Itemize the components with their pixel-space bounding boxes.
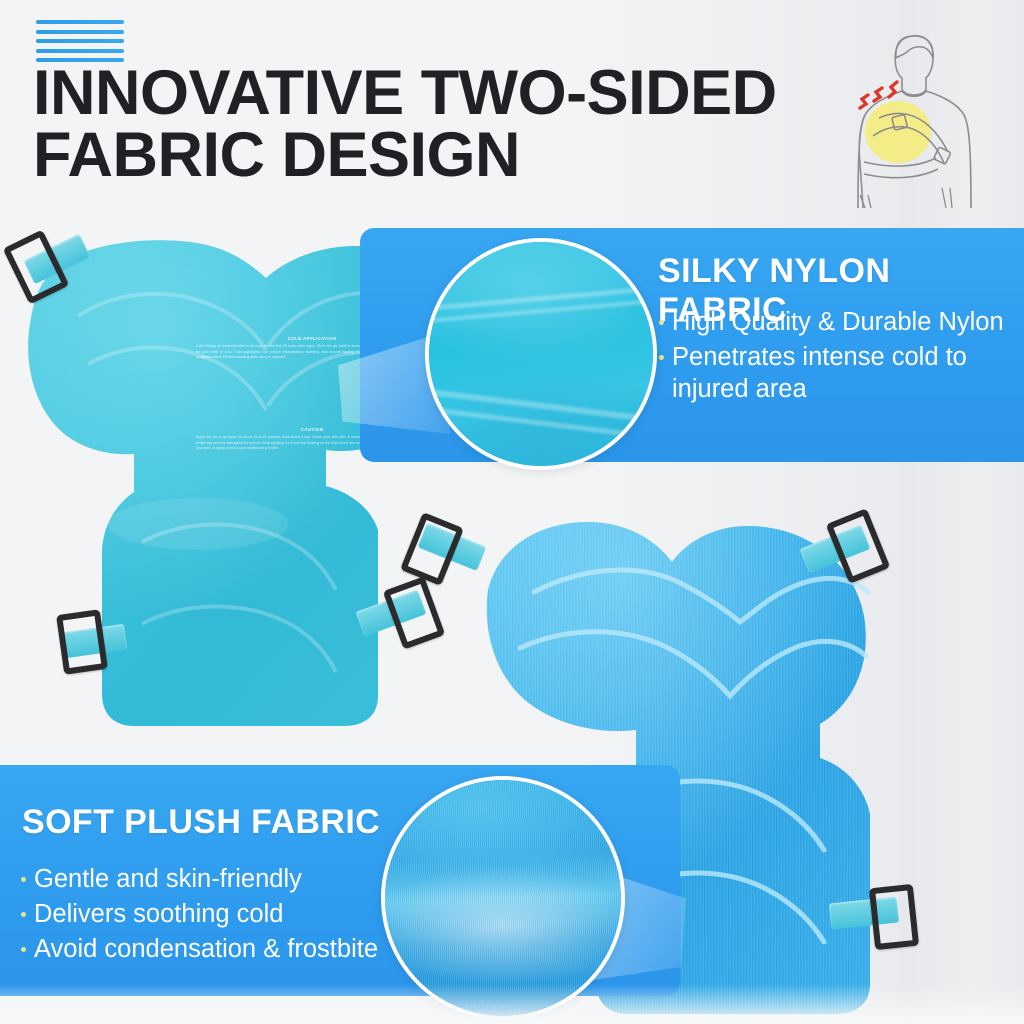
page-title: INNOVATIVE TWO-SIDED FABRIC DESIGN xyxy=(33,63,863,186)
neckline xyxy=(902,91,926,96)
bullet-item: Avoid condensation & frostbite xyxy=(20,933,420,966)
rule-line xyxy=(36,30,124,34)
forearm-lower-outline xyxy=(864,169,938,178)
rule-line xyxy=(36,39,124,43)
rule-line xyxy=(36,20,124,24)
pain-highlight xyxy=(865,101,931,163)
torso-right-outline xyxy=(926,91,971,208)
hair-outline xyxy=(896,36,933,58)
nylon-pack-shading xyxy=(108,498,288,550)
decorative-rule-stack xyxy=(36,20,124,62)
bullet-item: Delivers soothing cold xyxy=(20,898,420,931)
panel-silky-nylon-bullets: High Quality & Durable Nylon Penetrates … xyxy=(658,306,1010,407)
bullet-item: High Quality & Durable Nylon xyxy=(658,306,1010,339)
bottom-fade xyxy=(0,984,1024,1024)
buckle-bottom-right[interactable] xyxy=(869,884,919,950)
buckle-bottom-left[interactable] xyxy=(56,609,108,675)
product-infographic: INNOVATIVE TWO-SIDED FABRIC DESIGN xyxy=(0,0,1024,1024)
plush-fabric-closeup-surface xyxy=(385,780,621,1016)
panel-soft-plush-bullets: Gentle and skin-friendly Delivers soothi… xyxy=(20,863,420,968)
person-wearing-shoulder-brace-illustration xyxy=(838,12,1014,208)
strap-tail-right xyxy=(942,188,952,208)
panel-soft-plush-title: SOFT PLUSH FABRIC xyxy=(22,803,380,842)
head-outline xyxy=(895,36,933,95)
rule-line xyxy=(36,49,124,53)
bullet-item: Penetrates intense cold to injured area xyxy=(658,341,1010,405)
bullet-item: Gentle and skin-friendly xyxy=(20,863,420,896)
nylon-fabric-closeup-magnifier xyxy=(425,238,657,470)
